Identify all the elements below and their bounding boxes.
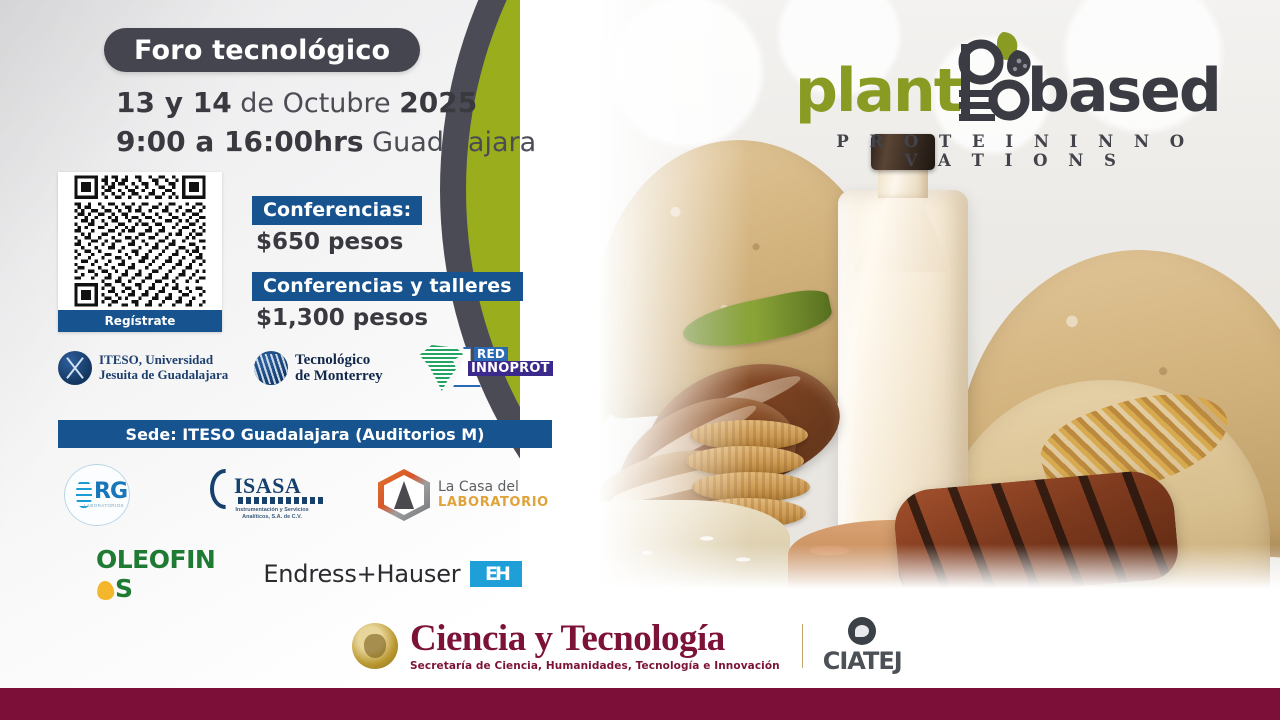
ciatej-eye-icon xyxy=(848,617,876,645)
tec-line-2: de Monterrey xyxy=(295,368,383,385)
tec-label: Tecnológico de Monterrey xyxy=(295,352,383,385)
logo-tec-monterrey: Tecnológico de Monterrey xyxy=(254,351,416,385)
logo-rg: RG LABORATORIOS xyxy=(62,462,136,528)
casa-line-1: La Casa del xyxy=(438,479,549,495)
registrate-label: Regístrate xyxy=(105,314,176,328)
event-date-line: 13 y 14 de Octubre 2025 xyxy=(116,86,477,119)
rg-label: RG xyxy=(94,479,127,504)
event-time: 9:00 a 16:00hrs xyxy=(116,125,364,158)
event-city: Guadalajara xyxy=(364,127,537,158)
logo-ciatej: CIATEJ xyxy=(823,617,902,675)
casa-line-2: LABORATORIO xyxy=(438,496,549,511)
qr-code-icon[interactable] xyxy=(58,172,222,310)
isasa-label: ISASA xyxy=(234,473,301,499)
pricing-block: Conferencias: $650 pesos Conferencias y … xyxy=(252,196,523,331)
eh-mark-label: EH xyxy=(470,561,522,587)
photo-left-fade xyxy=(520,0,750,596)
event-date-month: de Octubre xyxy=(232,88,400,119)
organizer-logos-row: ITESO, Universidad Jesuita de Guadalajar… xyxy=(58,345,558,391)
isasa-sub-line-1: Instrumentación y Servicios xyxy=(212,507,332,514)
venue-bar: Sede: ITESO Guadalajara (Auditorios M) xyxy=(58,420,552,448)
government-logo-band: Ciencia y Tecnología Secretaría de Cienc… xyxy=(352,615,902,677)
registration-qr-block[interactable]: Regístrate xyxy=(58,172,222,332)
logo-endress-hauser: Endress+Hauser EH xyxy=(263,560,522,588)
logo-iteso: ITESO, Universidad Jesuita de Guadalajar… xyxy=(58,351,254,385)
endress-hauser-label: Endress+Hauser xyxy=(263,560,460,588)
casa-label: La Casa del LABORATORIO xyxy=(438,479,549,510)
tec-line-1: Tecnológico xyxy=(295,352,383,369)
government-text: Ciencia y Tecnología Secretaría de Cienc… xyxy=(410,620,780,672)
iteso-label: ITESO, Universidad Jesuita de Guadalajar… xyxy=(99,353,228,382)
hexagon-a-icon xyxy=(378,469,430,521)
bottom-accent-bar xyxy=(0,688,1280,720)
isasa-bars-icon xyxy=(238,497,324,504)
innoprot-name-label: INNOPROT xyxy=(468,361,553,376)
photo-bottom-fade xyxy=(520,544,1280,596)
iteso-seal-icon xyxy=(58,351,92,385)
innoprot-red-label: RED xyxy=(474,347,508,361)
plant-based-logo: plant based P R O T E I N I N N O V A T … xyxy=(795,52,1215,162)
isasa-sublabel: Instrumentación y Servicios Analíticos, … xyxy=(212,507,332,521)
oleofinos-label-2: S xyxy=(115,574,133,603)
plant-sprout-fork-icon xyxy=(945,28,1037,124)
oil-drop-icon xyxy=(96,580,115,601)
logo-isasa: ISASA Instrumentación y Servicios Analít… xyxy=(208,465,332,525)
foro-badge-label: Foro tecnológico xyxy=(134,35,390,66)
venue-label: Sede: ITESO Guadalajara (Auditorios M) xyxy=(126,425,485,444)
iteso-line-1: ITESO, Universidad xyxy=(99,353,228,368)
price-tag-conferencias-talleres: Conferencias y talleres xyxy=(252,272,523,301)
event-time-line: 9:00 a 16:00hrs Guadalajara xyxy=(116,125,536,158)
government-title: Ciencia y Tecnología xyxy=(410,620,780,657)
foro-tecnologico-badge: Foro tecnológico xyxy=(104,28,420,72)
isasa-sub-line-2: Analíticos, S.A. de C.V. xyxy=(212,514,332,521)
rg-sublabel: LABORATORIOS xyxy=(84,503,124,508)
iteso-line-2: Jesuita de Guadalajara xyxy=(99,368,228,383)
brand-word-plant: plant xyxy=(795,56,960,126)
price-value-conferencias: $650 pesos xyxy=(256,229,523,255)
logo-oleofinos: OLEOFINS xyxy=(96,545,215,603)
price-tag-conferencias: Conferencias: xyxy=(252,196,422,225)
event-date-year: 2025 xyxy=(399,86,477,119)
price-value-conferencias-talleres: $1,300 pesos xyxy=(256,305,523,331)
logo-la-casa-del-laboratorio: La Casa del LABORATORIO xyxy=(378,466,526,524)
tec-seal-icon xyxy=(254,351,288,385)
government-subtitle: Secretaría de Ciencia, Humanidades, Tecn… xyxy=(410,660,780,672)
logo-red-innoprot: RED INNOPROT xyxy=(416,345,534,391)
eh-mark-icon: EH xyxy=(470,561,522,587)
mexico-eagle-seal-icon xyxy=(352,623,398,669)
event-poster: plant based P R O T E I N I N N O V A T … xyxy=(0,0,1280,720)
brand-word-based: based xyxy=(1027,56,1220,126)
oleofinos-label-1: OLEOFIN xyxy=(96,545,215,574)
sponsor-logos-row-2: OLEOFINS Endress+Hauser EH xyxy=(96,545,516,603)
event-date-days: 13 y 14 xyxy=(116,86,232,119)
divider xyxy=(802,624,803,668)
brand-tagline: P R O T E I N I N N O V A T I O N S xyxy=(823,132,1205,170)
ciatej-label: CIATEJ xyxy=(823,647,902,675)
sponsor-logos-row-1: RG LABORATORIOS ISASA Instrumentación y … xyxy=(62,462,542,528)
registrate-button[interactable]: Regístrate xyxy=(58,310,222,332)
